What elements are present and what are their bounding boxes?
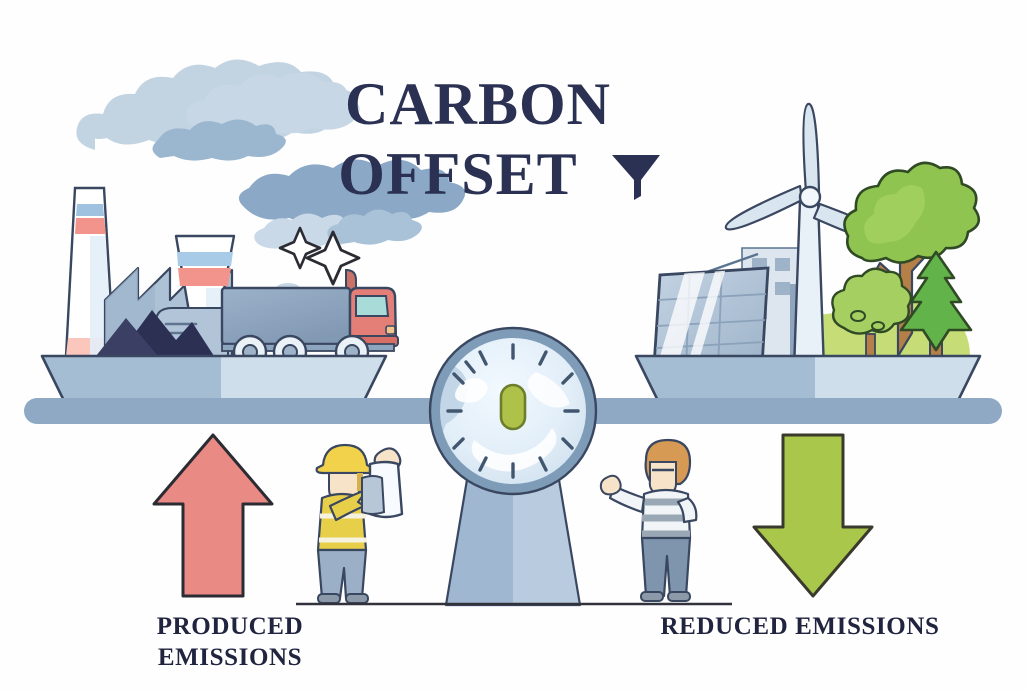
title-funnel-glyph-icon xyxy=(612,155,660,200)
factory-group xyxy=(66,188,234,356)
turbine-mast xyxy=(794,200,824,370)
carbon-offset-infographic: CARBON OFFSET PRODUCED EMISSIONS REDUCED… xyxy=(0,0,1026,691)
smokestack-stripe-top xyxy=(76,204,104,216)
bush-foliage xyxy=(832,269,911,334)
infographic-artwork xyxy=(0,0,1026,691)
solar-panel xyxy=(654,266,768,370)
bush-trunk xyxy=(866,334,875,358)
caption-produced-line2: EMISSIONS xyxy=(110,643,350,674)
engineer-hard-hat xyxy=(317,445,374,473)
cooling-tower-stripe-red xyxy=(178,268,231,286)
engineer-legs xyxy=(318,550,366,598)
caption-reduced-emissions: REDUCED EMISSIONS xyxy=(650,612,950,643)
renewable-scene-group xyxy=(654,104,979,374)
smokestack-stripe-red xyxy=(75,218,106,234)
produced-emissions-arrow-up xyxy=(154,435,272,596)
truck-window xyxy=(356,296,388,316)
reduced-emissions-arrow-down xyxy=(754,435,872,596)
engineer-clipboard-back xyxy=(362,476,384,514)
scale-gauge xyxy=(420,328,596,494)
turbine-blade-up xyxy=(803,104,819,192)
gauge-needle xyxy=(501,385,525,429)
smoke-cloud-group xyxy=(76,59,465,305)
engineer-shoes xyxy=(318,594,368,603)
smoke-cloud-dark xyxy=(239,159,465,223)
cooling-tower-stripe-blue xyxy=(177,252,233,266)
dump-truck-group xyxy=(222,270,398,368)
caption-produced-emissions: PRODUCED EMISSIONS xyxy=(110,612,350,673)
truck-headlight xyxy=(386,326,395,334)
turbine-hub xyxy=(800,187,820,207)
turbine-blade-left xyxy=(726,186,802,229)
caption-produced-line1: PRODUCED xyxy=(110,612,350,643)
person-shoes xyxy=(641,592,690,601)
balance-scale xyxy=(24,328,1002,605)
figure-person-waving xyxy=(601,440,696,601)
person-legs xyxy=(642,538,690,596)
person-hand-raised xyxy=(601,476,621,495)
figure-engineer xyxy=(317,445,402,603)
